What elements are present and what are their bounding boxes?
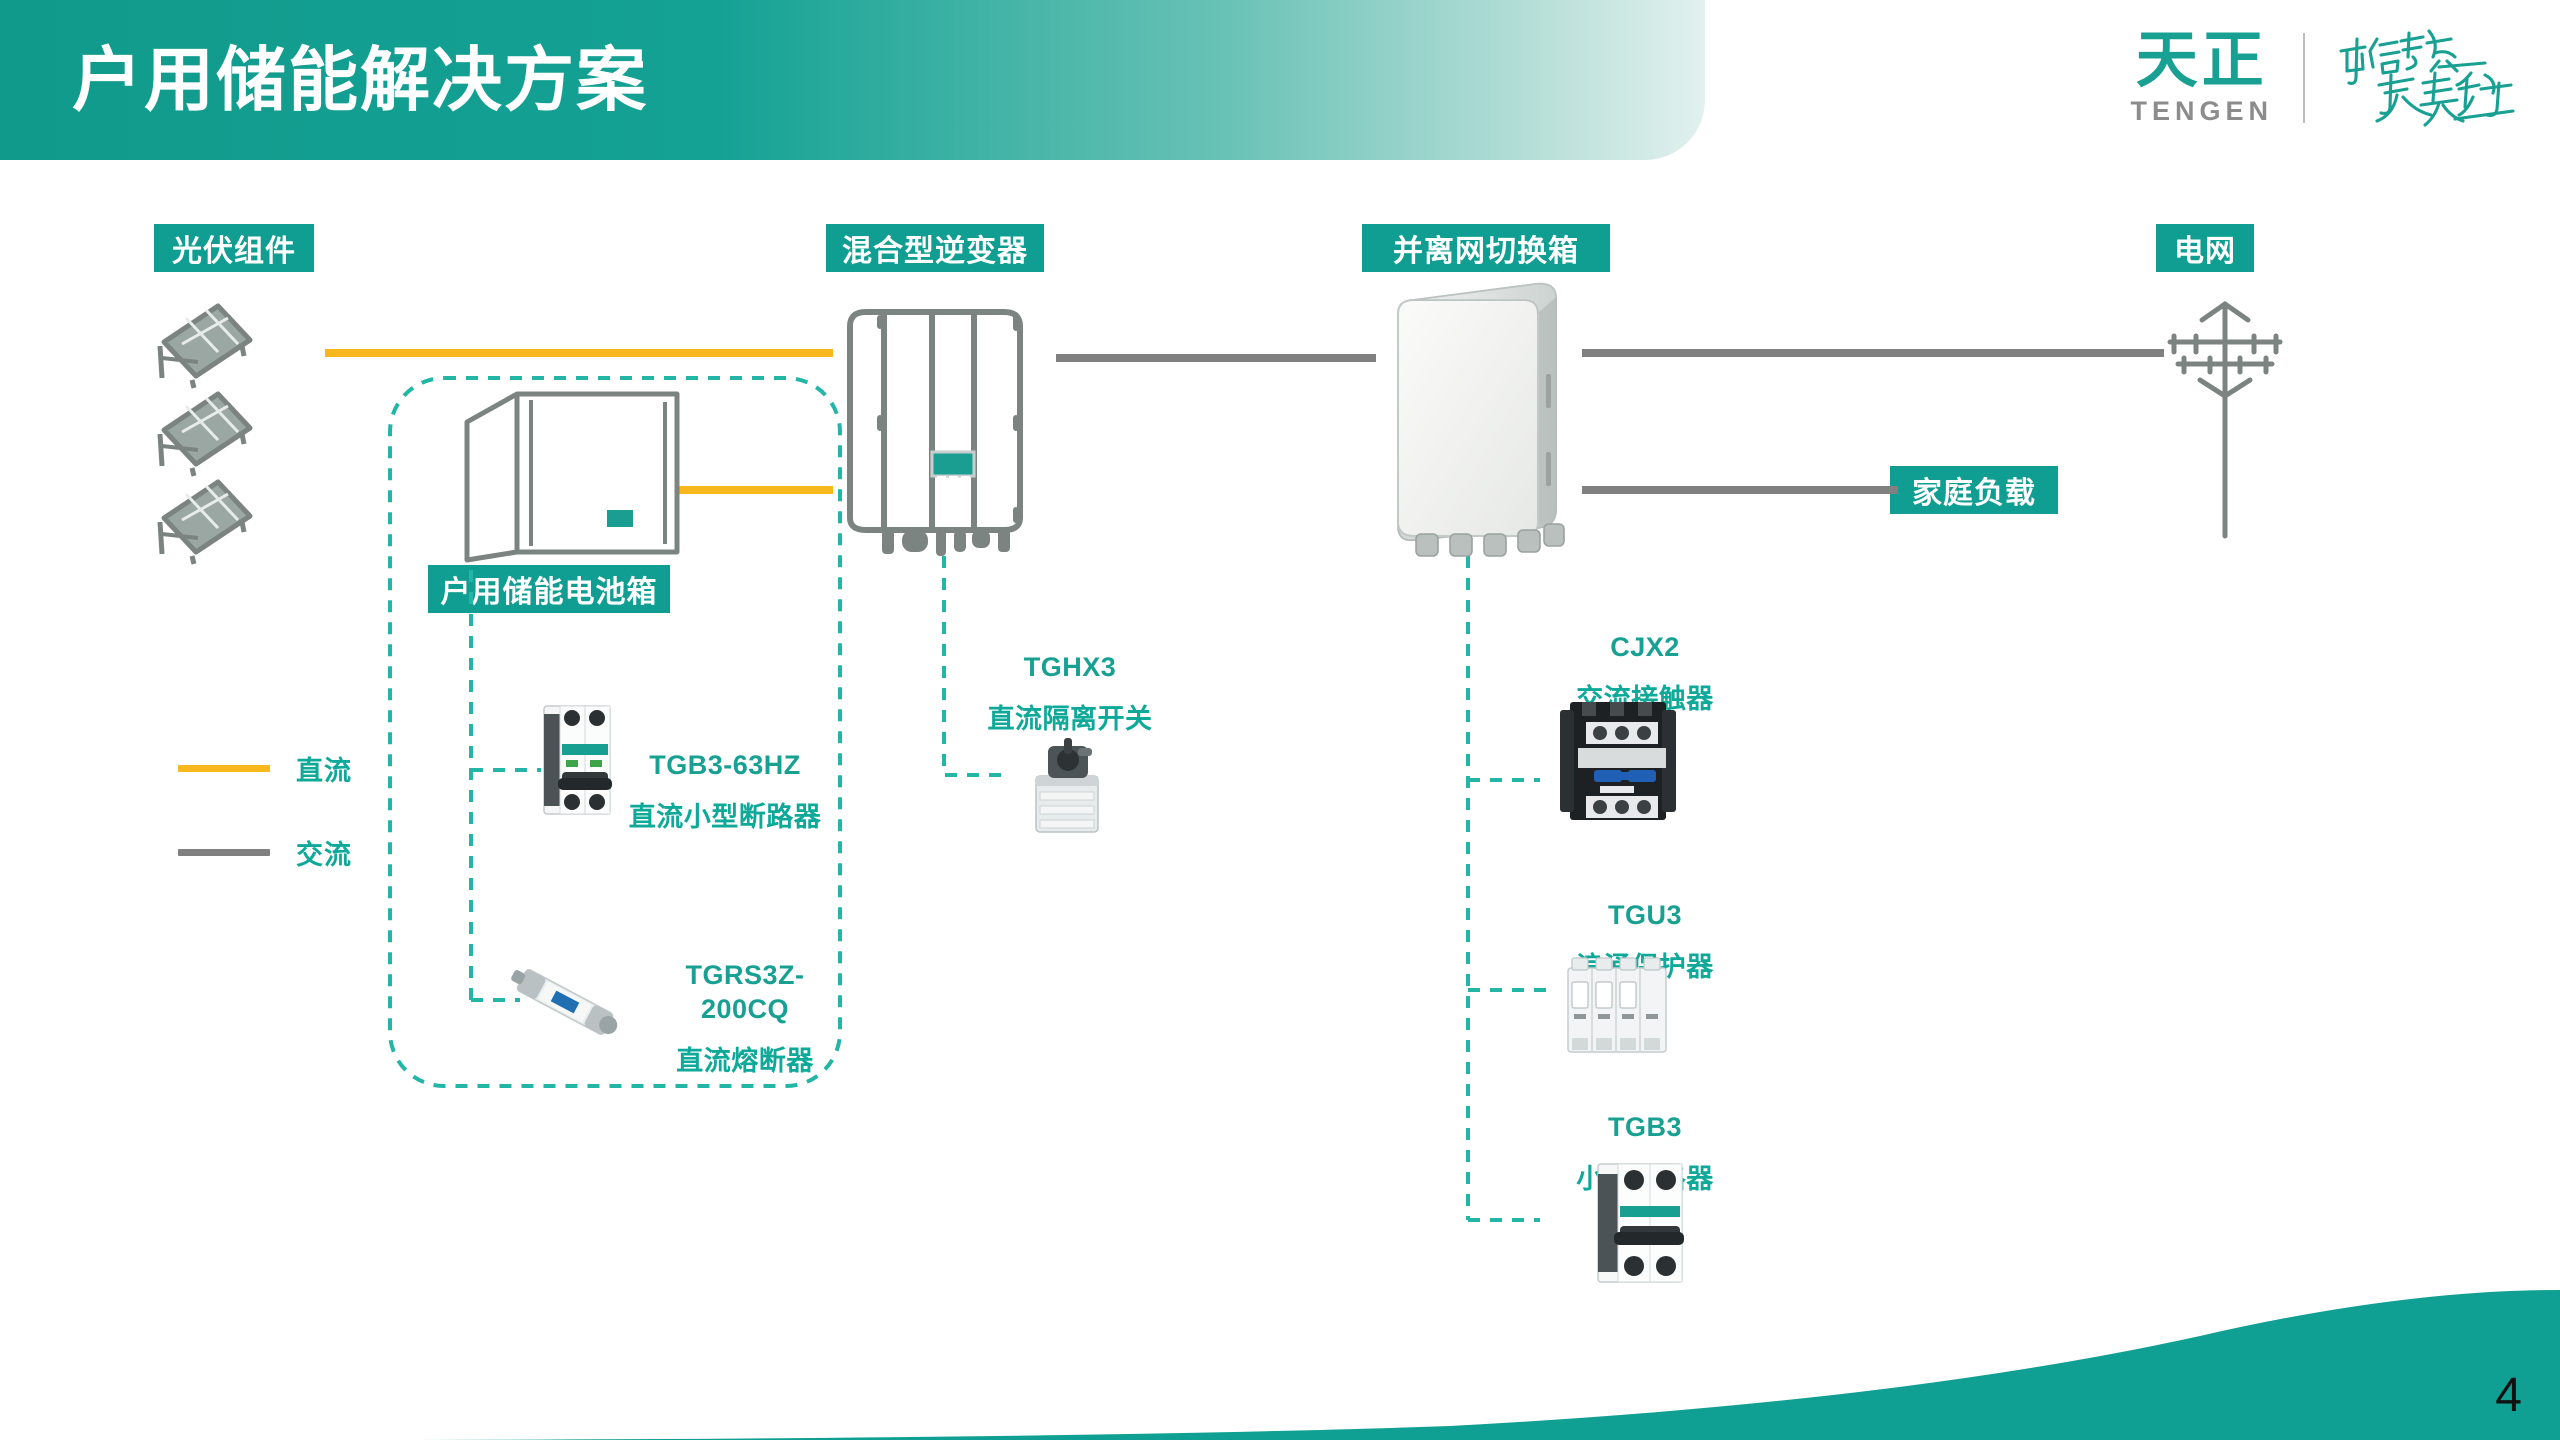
page-number: 4 <box>2495 1370 2522 1422</box>
caption-tgrs3z-200cq-model: TGRS3Z- 200CQ <box>620 958 870 1026</box>
solar-panel-array-icon <box>140 296 340 576</box>
legend-item-ac: 交流 <box>178 832 352 872</box>
caption-tgrs3z-200cq-desc: 直流熔断器 <box>620 1044 870 1078</box>
battery-status-led <box>607 510 633 527</box>
legend-item-dc-label: 直流 <box>296 749 352 788</box>
caption-cjx2-model: CJX2 <box>1520 630 1770 664</box>
inverter-display-panel <box>932 452 974 476</box>
caption-tghx3-desc: 直流隔离开关 <box>940 702 1200 736</box>
legend-item-ac-label: 交流 <box>296 833 352 872</box>
legend-item-dc: 直流 <box>178 748 352 788</box>
utility-pole-icon <box>2140 290 2310 540</box>
caption-tgb3-model: TGB3 <box>1520 1110 1770 1144</box>
surge-protector-icon <box>1558 952 1678 1062</box>
miniature-circuit-breaker-icon <box>1578 1158 1698 1288</box>
dc-line-swatch-icon <box>178 765 270 772</box>
caption-tgb3-63hz-model: TGB3-63HZ <box>580 748 870 782</box>
caption-tgb3-63hz: TGB3-63HZ 直流小型断路器 <box>580 730 870 852</box>
caption-tghx3-model: TGHX3 <box>940 650 1200 684</box>
legend: 直流 交流 <box>178 748 352 872</box>
dc-isolator-switch-icon <box>1012 732 1122 842</box>
slide-canvas: 户用储能解决方案 天正 TENGEN <box>0 0 2560 1440</box>
caption-tgu3-model: TGU3 <box>1520 898 1770 932</box>
wiring-layer <box>0 0 2560 1440</box>
dc-fuse-icon <box>500 952 630 1052</box>
ac-line-swatch-icon <box>178 849 270 856</box>
footer-curve <box>0 1290 2560 1440</box>
caption-tgrs3z-200cq: TGRS3Z- 200CQ 直流熔断器 <box>620 940 870 1096</box>
transfer-switch-cabinet-icon <box>1368 278 1588 568</box>
caption-tgb3-63hz-desc: 直流小型断路器 <box>580 800 870 834</box>
hybrid-inverter-icon <box>828 300 1058 560</box>
battery-cabinet-icon <box>455 382 685 572</box>
ac-contactor-icon <box>1548 696 1688 826</box>
